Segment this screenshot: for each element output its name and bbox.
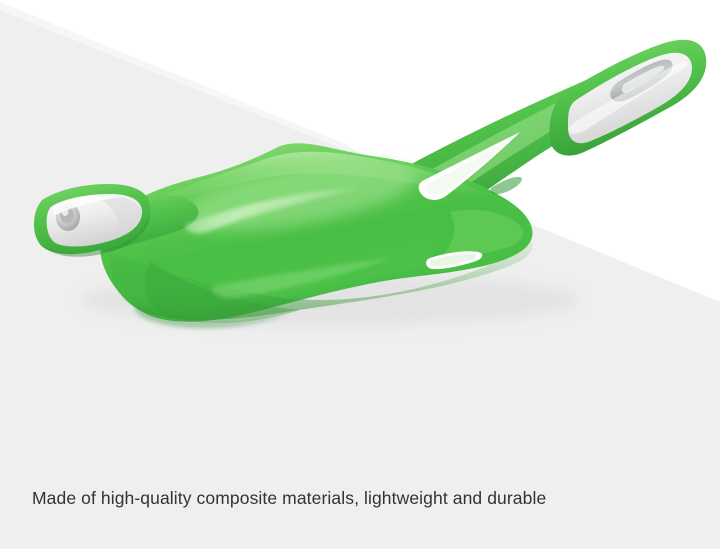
caption-band [0, 470, 720, 549]
product-photo-stage [0, 0, 720, 470]
product-image-card: Made of high-quality composite materials… [0, 0, 720, 549]
product-caption: Made of high-quality composite materials… [32, 487, 546, 509]
handguard-product-photo [0, 0, 720, 470]
right-mount-bracket [550, 40, 707, 156]
